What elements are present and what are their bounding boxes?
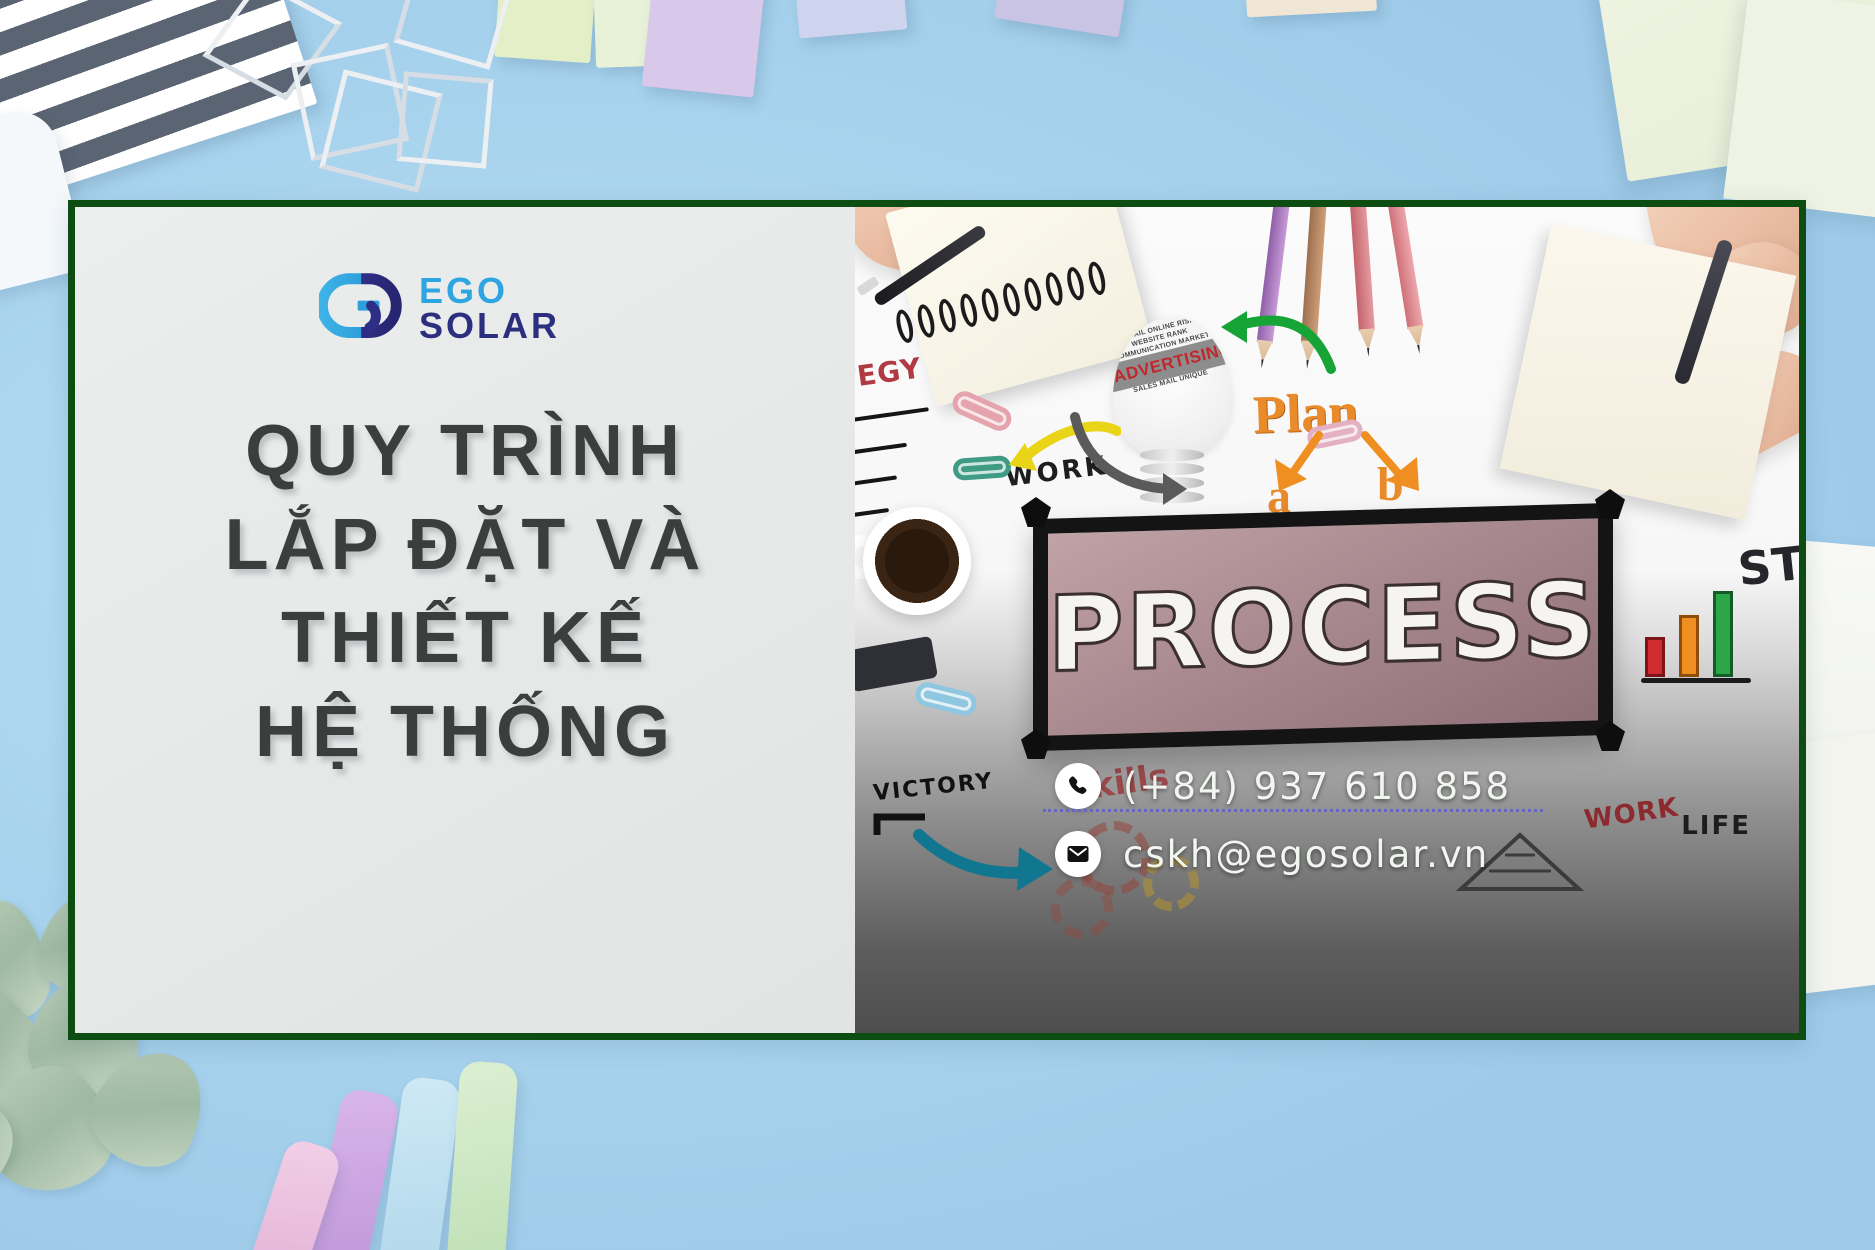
arrow-orange-a (1263, 429, 1333, 505)
striped-paper-decoration (0, 0, 317, 205)
sticky-note-lavender (994, 0, 1132, 37)
notepad-top-right (1586, 0, 1875, 182)
contact-phone: (+84) 937 610 858 (1123, 765, 1511, 808)
poster-card: EGO SOLAR QUY TRÌNH LẮP ĐẶT VÀ THIẾT KẾ … (68, 200, 1806, 1040)
phone-icon (1055, 763, 1101, 809)
arrow-green-left (1209, 307, 1339, 387)
sticky-note-green (494, 0, 598, 63)
dotted-divider (1043, 809, 1543, 812)
process-banner: PROCESS (1033, 511, 1613, 743)
arrow-gray-right (1067, 407, 1197, 507)
sticky-note-blue (791, 0, 908, 39)
contact-email-row[interactable]: cskh@egosolar.vn (1055, 831, 1511, 877)
arrow-orange-b (1353, 429, 1429, 509)
process-photo: E-MAIL ONLINE RISK WEBSITE RANK COMMUNIC… (855, 207, 1799, 1033)
page-title-line-1: QUY TRÌNH (75, 405, 855, 499)
envelope-icon (1055, 831, 1101, 877)
pencil-pink (1347, 207, 1375, 331)
triangle-paperclip-icon (202, 0, 342, 101)
victory-underline (873, 803, 953, 843)
brand-logo[interactable]: EGO SOLAR (319, 267, 855, 351)
bar-chart-doodle (1641, 591, 1757, 687)
contact-block: (+84) 937 610 858 cskh@egosolar.vn (1055, 763, 1511, 899)
page-title: QUY TRÌNH LẮP ĐẶT VÀ THIẾT KẾ HỆ THỐNG (75, 405, 855, 779)
label-st: ST (1736, 536, 1799, 597)
page-title-line-2: LẮP ĐẶT VÀ (75, 499, 855, 593)
sticky-note-cream (1243, 0, 1377, 17)
pencil-rose (1383, 207, 1424, 329)
page-title-line-3: THIẾT KẾ (75, 592, 855, 686)
triangle-paperclip-icon (396, 71, 494, 169)
brand-name-solar: SOLAR (419, 309, 560, 344)
bar-2 (1679, 615, 1699, 677)
ego-solar-g-mark-icon (319, 267, 403, 351)
contact-phone-row[interactable]: (+84) 937 610 858 (1055, 763, 1511, 809)
triangle-paperclip-icon (319, 69, 443, 193)
paperclip-blue (913, 680, 979, 718)
triangle-paperclip-icon (393, 0, 517, 70)
sticky-note-lilac (642, 0, 767, 98)
contact-email: cskh@egosolar.vn (1123, 833, 1489, 876)
label-strategy: TEGY (855, 351, 924, 395)
bar-3 (1713, 591, 1733, 677)
label-victory: VICTORY (872, 769, 995, 806)
text-panel: EGO SOLAR QUY TRÌNH LẮP ĐẶT VÀ THIẾT KẾ … (75, 207, 855, 1033)
paper-sheet-right (1500, 224, 1797, 521)
triangle-paperclip-icon (291, 43, 410, 162)
label-work-red: WORK (1582, 793, 1680, 836)
rule-line (855, 407, 929, 423)
brand-name: EGO SOLAR (419, 274, 560, 343)
brand-name-ego: EGO (419, 274, 560, 309)
sticky-note-mint (592, 0, 708, 68)
coffee-cup (863, 507, 971, 615)
label-life: LIFE (1681, 811, 1751, 841)
process-banner-text: PROCESS (1033, 503, 1613, 751)
page-title-line-4: HỆ THỐNG (75, 686, 855, 780)
rule-line (855, 475, 897, 486)
notepad-top-right-2 (1723, 0, 1875, 230)
rule-line (855, 443, 907, 456)
bar-1 (1645, 637, 1665, 677)
